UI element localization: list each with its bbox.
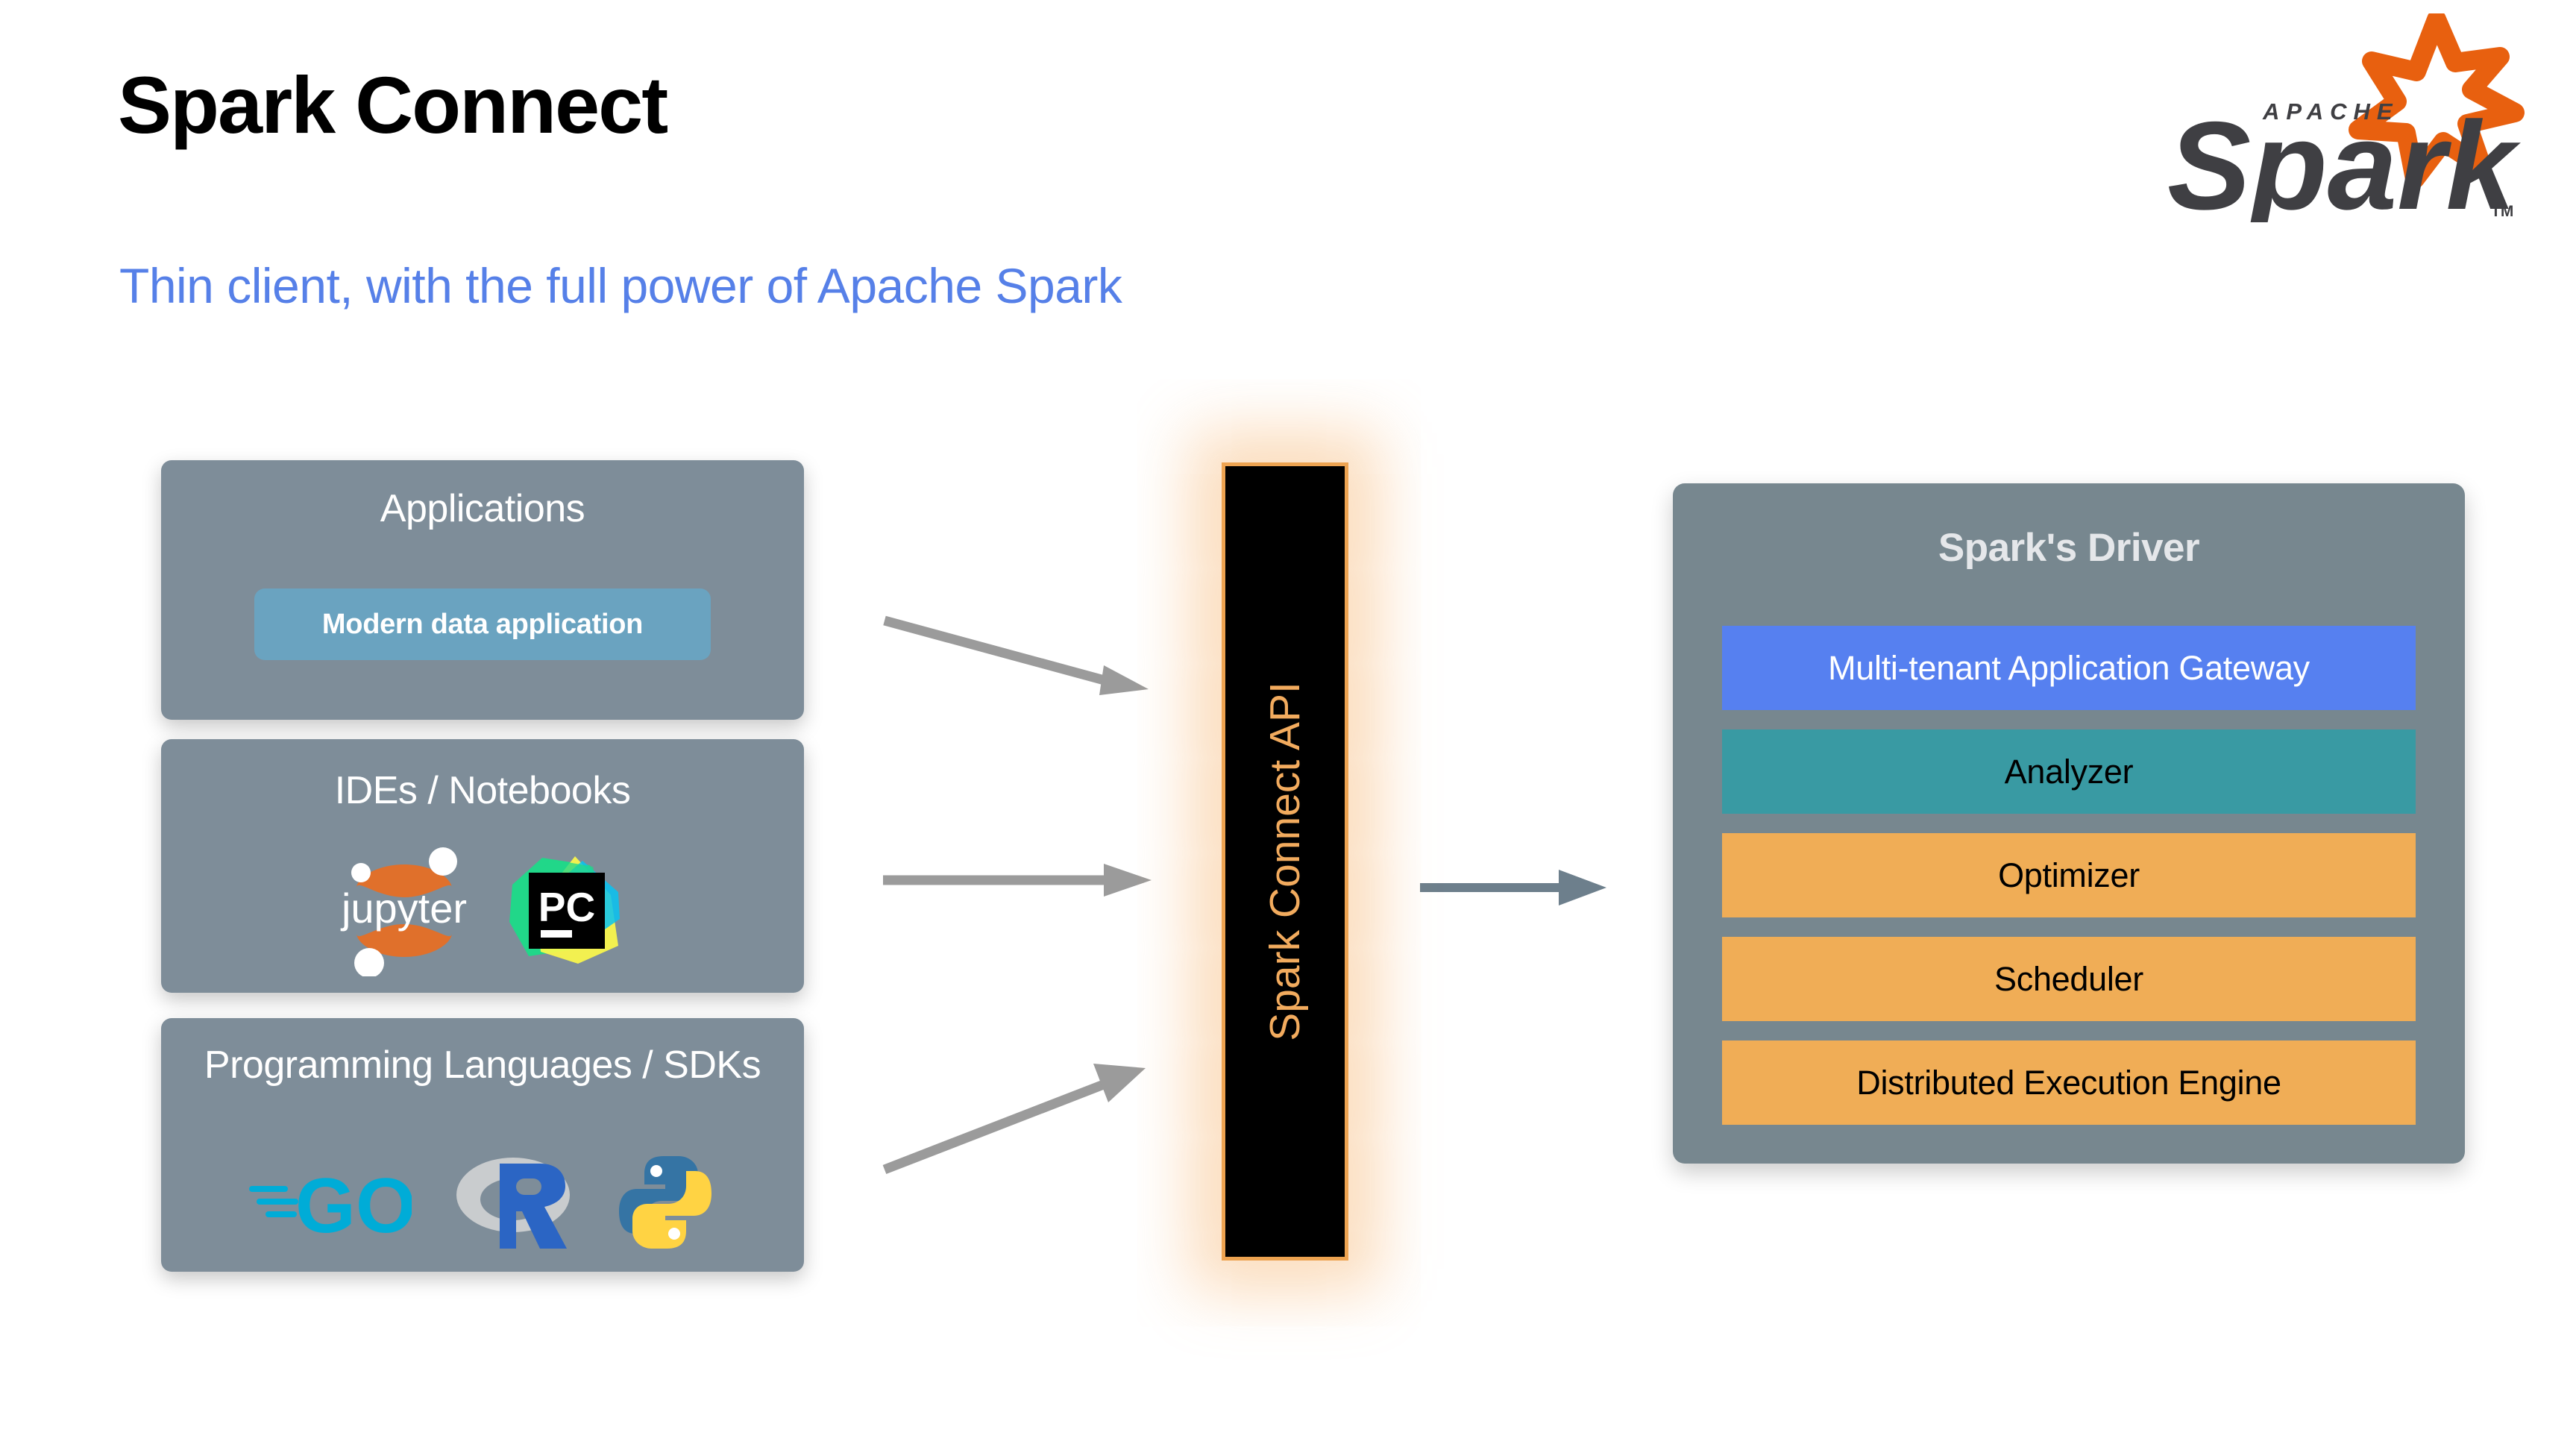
jupyter-dot-top-left bbox=[351, 863, 371, 882]
modern-data-application-box: Modern data application bbox=[254, 588, 711, 660]
arrowhead-icon bbox=[1099, 665, 1149, 695]
arrowhead-icon bbox=[1104, 864, 1152, 897]
driver-row-label: Optimizer bbox=[1998, 856, 2140, 895]
python-logo bbox=[615, 1152, 716, 1253]
spark-driver-stack: Multi-tenant Application Gateway Analyze… bbox=[1722, 626, 2416, 1125]
arrow-languages-to-api bbox=[880, 1052, 1163, 1178]
driver-row-label: Analyzer bbox=[2005, 753, 2134, 791]
card-ides-notebooks-title: IDEs / Notebooks bbox=[161, 739, 804, 813]
card-ides-notebooks: IDEs / Notebooks jupyter PC bbox=[161, 739, 804, 993]
jupyter-dot-top-right bbox=[429, 847, 457, 876]
modern-data-application-label: Modern data application bbox=[322, 609, 643, 641]
card-applications-title: Applications bbox=[161, 460, 804, 531]
card-programming-languages-title: Programming Languages / SDKs bbox=[161, 1018, 804, 1087]
pycharm-wordmark: PC bbox=[538, 884, 595, 930]
card-programming-languages: Programming Languages / SDKs GO bbox=[161, 1018, 804, 1272]
driver-row-label: Scheduler bbox=[1994, 960, 2143, 999]
r-language-logo bbox=[453, 1153, 573, 1252]
ide-logo-row: jupyter PC bbox=[161, 844, 804, 978]
driver-row-analyzer: Analyzer bbox=[1722, 729, 2416, 814]
pycharm-underscore-icon bbox=[541, 930, 572, 938]
arrow-api-to-driver bbox=[1417, 858, 1611, 917]
go-speed-line-1 bbox=[249, 1186, 288, 1192]
arrow-applications-to-api bbox=[880, 612, 1163, 709]
driver-row-optimizer: Optimizer bbox=[1722, 833, 2416, 917]
driver-row-label: Multi-tenant Application Gateway bbox=[1828, 649, 2310, 688]
page-subtitle: Thin client, with the full power of Apac… bbox=[119, 257, 1122, 314]
arrow-ides-to-api bbox=[880, 850, 1163, 910]
spark-logo-trademark: TM bbox=[2491, 203, 2513, 220]
driver-row-label: Distributed Execution Engine bbox=[1856, 1064, 2281, 1102]
spark-driver-panel: Spark's Driver Multi-tenant Application … bbox=[1673, 483, 2465, 1164]
jupyter-logo: jupyter bbox=[338, 845, 471, 976]
apache-spark-logo: APACHE Spark TM bbox=[2166, 13, 2531, 222]
spark-connect-api-bar: Spark Connect API bbox=[1222, 462, 1348, 1261]
spark-driver-title: Spark's Driver bbox=[1673, 483, 2465, 571]
arrowhead-icon bbox=[1093, 1064, 1146, 1102]
spark-connect-api-label: Spark Connect API bbox=[1260, 682, 1310, 1041]
driver-row-execution-engine: Distributed Execution Engine bbox=[1722, 1040, 2416, 1125]
go-speed-line-2 bbox=[257, 1199, 298, 1205]
arrowhead-icon bbox=[1559, 870, 1606, 905]
pycharm-logo: PC bbox=[506, 850, 627, 971]
card-applications: Applications Modern data application bbox=[161, 460, 804, 720]
golang-logo: GO bbox=[249, 1164, 412, 1241]
language-logo-row: GO bbox=[161, 1142, 804, 1263]
go-speed-line-3 bbox=[266, 1211, 297, 1217]
go-wordmark: GO bbox=[295, 1164, 412, 1241]
spark-logo-wordmark: Spark bbox=[2167, 95, 2521, 222]
page-title: Spark Connect bbox=[118, 58, 667, 151]
jupyter-wordmark: jupyter bbox=[340, 885, 467, 932]
driver-row-scheduler: Scheduler bbox=[1722, 937, 2416, 1021]
driver-row-gateway: Multi-tenant Application Gateway bbox=[1722, 626, 2416, 710]
